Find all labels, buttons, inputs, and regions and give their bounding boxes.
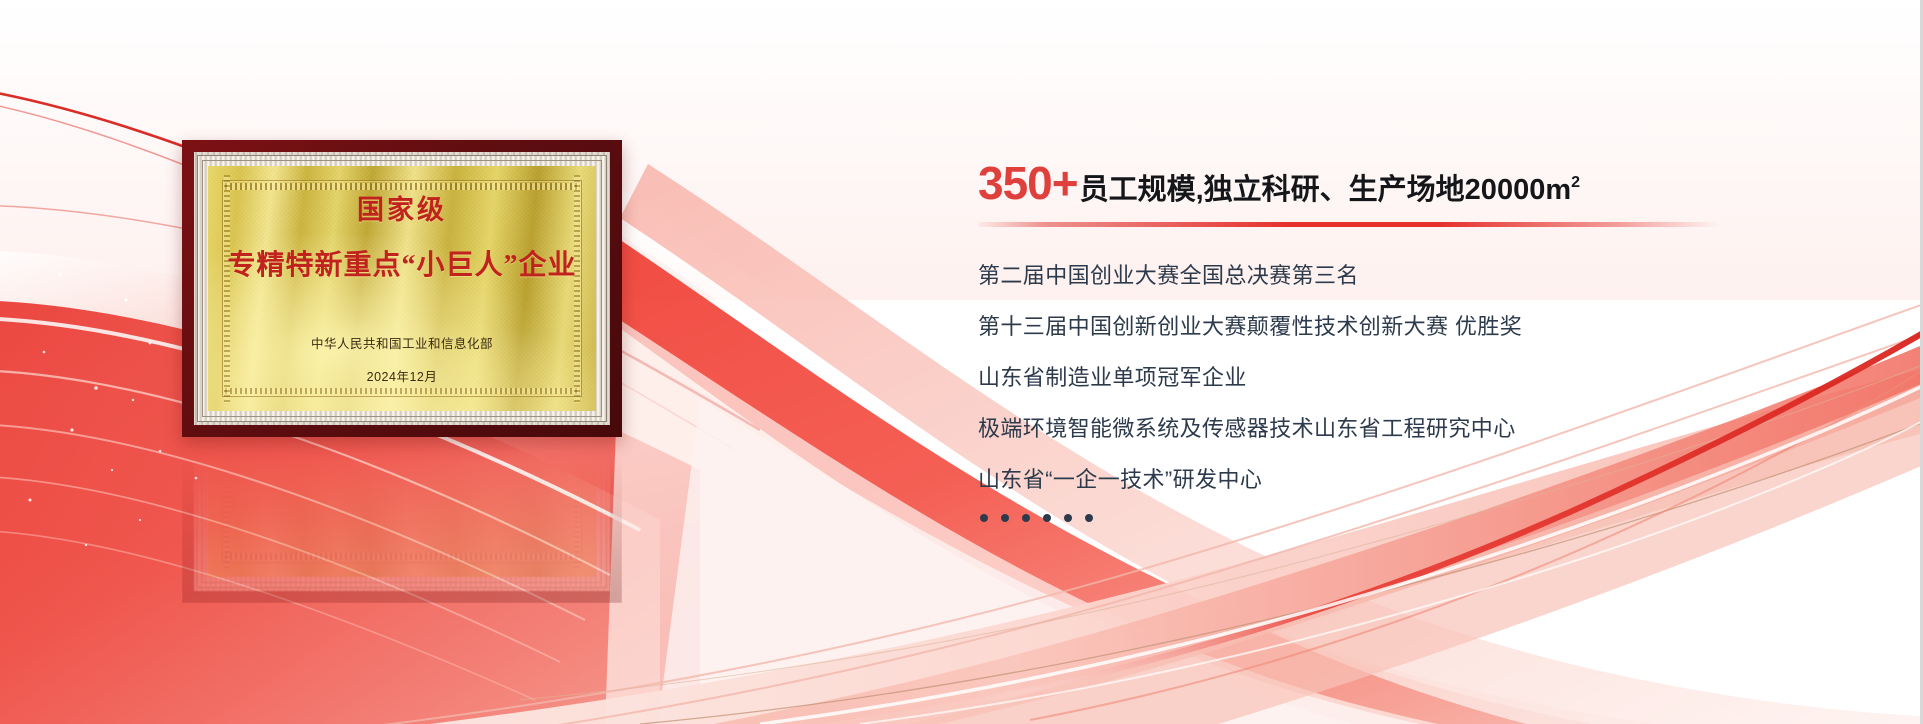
achievement-item: 极端环境智能微系统及传感器技术山东省工程研究中心 [978,418,1858,440]
achievement-item: 第二届中国创业大赛全国总决赛第三名 [978,265,1858,287]
plaque-text-block: 国家级 专精特新重点“小巨人”企业 中华人民共和国工业和信息化部 2024年12… [182,140,622,437]
headline-text: 员工规模,独立科研、生产场地20000m [1080,176,1572,205]
achievement-item: 第十三届中国创新创业大赛颠覆性技术创新大赛 优胜奖 [978,316,1858,338]
plaque-title-line1: 国家级 [357,188,447,227]
achievements-ellipsis [978,514,1858,522]
achievement-item: 山东省制造业单项冠军企业 [978,367,1858,389]
plaque-date: 2024年12月 [367,366,438,385]
ellipsis-dot [1064,514,1072,522]
headline-superscript: 2 [1571,175,1580,191]
ellipsis-dot [1085,514,1093,522]
plaque-title-line2: 专精特新重点“小巨人”企业 [227,243,576,283]
headline: 350+ 员工规模,独立科研、生产场地20000m 2 [978,160,1858,206]
company-honors-banner: 国家级 专精特新重点“小巨人”企业 中华人民共和国工业和信息化部 2024年12… [0,0,1923,724]
achievements-list: 第二届中国创业大赛全国总决赛第三名 第十三届中国创新创业大赛颠覆性技术创新大赛 … [978,265,1858,522]
honors-content: 350+ 员工规模,独立科研、生产场地20000m 2 第二届中国创业大赛全国总… [978,160,1858,522]
plaque-issuer: 中华人民共和国工业和信息化部 [311,333,493,352]
ellipsis-dot [980,514,988,522]
headline-divider [978,222,1720,227]
ellipsis-dot [1001,514,1009,522]
headline-number: 350+ [978,160,1078,206]
achievement-item: 山东省“一企一技术”研发中心 [978,469,1858,491]
ellipsis-dot [1022,514,1030,522]
award-plaque: 国家级 专精特新重点“小巨人”企业 中华人民共和国工业和信息化部 2024年12… [182,140,622,437]
plaque-frame: 国家级 专精特新重点“小巨人”企业 中华人民共和国工业和信息化部 2024年12… [182,140,622,437]
ellipsis-dot [1043,514,1051,522]
